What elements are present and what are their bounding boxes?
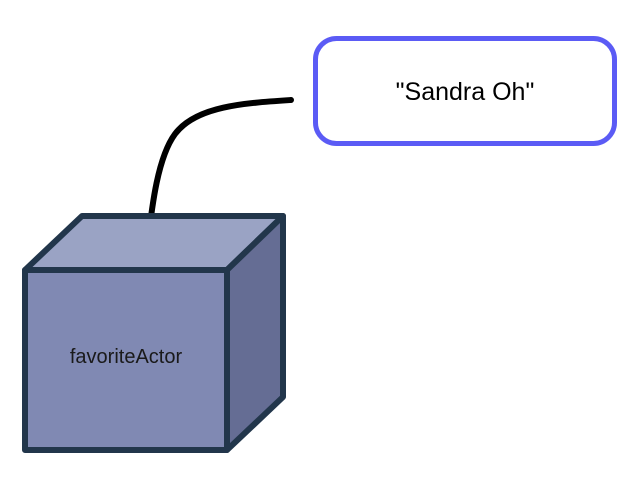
variable-cube[interactable]: favoriteActor [25,216,283,450]
value-box-text: "Sandra Oh" [396,78,535,106]
value-box[interactable]: "Sandra Oh" [316,39,615,144]
diagram-svg: "Sandra Oh" favoriteActor [0,0,639,484]
diagram-canvas: "Sandra Oh" favoriteActor [0,0,639,484]
cube-variable-label: favoriteActor [70,346,183,368]
